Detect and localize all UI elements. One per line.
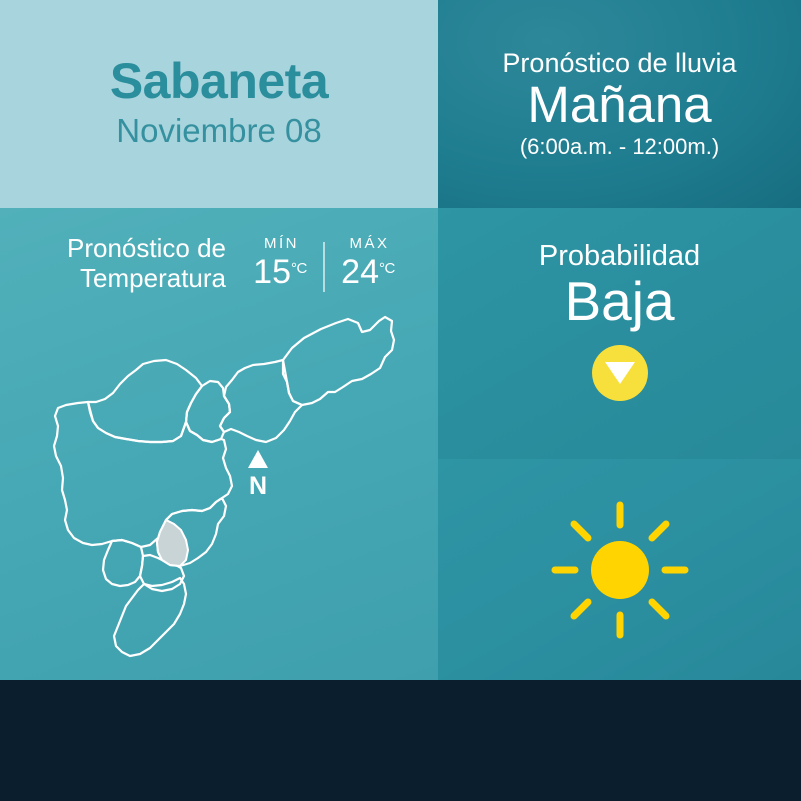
temperature-header: Pronóstico de Temperatura MÍN 15°C MÁX 2… <box>0 234 438 294</box>
rain-forecast-period: Mañana <box>527 77 711 132</box>
map-svg: N <box>40 308 440 658</box>
temperature-min-caption: MÍN <box>240 236 320 253</box>
municipality-bello <box>88 360 202 442</box>
temperature-max-block: MÁX 24°C <box>328 236 408 291</box>
temperature-map-panel: Pronóstico de Temperatura MÍN 15°C MÁX 2… <box>0 208 438 680</box>
municipality-medellin <box>54 402 232 547</box>
municipality-girardota <box>220 360 302 442</box>
probability-value: Baja <box>564 273 674 331</box>
probability-panel: Probabilidad Baja <box>438 208 801 459</box>
temperature-label: Pronóstico de Temperatura <box>30 234 240 294</box>
page-title: Sabaneta <box>110 55 328 108</box>
map-municipality-borders <box>54 317 394 656</box>
temperature-max-caption: MÁX <box>328 236 408 253</box>
forecast-date: Noviembre 08 <box>116 110 321 153</box>
city-title-panel: Sabaneta Noviembre 08 <box>0 0 438 208</box>
municipality-sabaneta-highlighted[interactable] <box>157 520 188 566</box>
temperature-max-number: 24 <box>341 253 379 291</box>
footer-bar: SIATA Con el apoyo de: epm® ISAGEN Un pr… <box>0 680 801 801</box>
sun-disk <box>591 541 649 599</box>
rain-forecast-panel: Pronóstico de lluvia Mañana (6:00a.m. - … <box>438 0 801 208</box>
municipality-itagui <box>103 540 143 586</box>
triangle-down-icon <box>592 345 648 401</box>
rain-forecast-kicker: Pronóstico de lluvia <box>502 48 736 79</box>
temperature-max-unit: °C <box>379 260 395 277</box>
temperature-divider <box>323 242 325 292</box>
sky-condition-panel <box>438 459 801 680</box>
temperature-min-block: MÍN 15°C <box>240 236 320 291</box>
north-arrow-icon <box>248 450 268 468</box>
temperature-min-unit: °C <box>291 260 307 277</box>
north-arrow-label: N <box>249 472 267 500</box>
north-arrow: N <box>248 450 268 500</box>
temperature-min-value: 15°C <box>240 254 320 291</box>
municipality-barbosa <box>283 317 394 405</box>
rain-forecast-hours: (6:00a.m. - 12:00m.) <box>520 134 719 160</box>
probability-label: Probabilidad <box>539 241 700 273</box>
temperature-max-value: 24°C <box>328 254 408 291</box>
weather-forecast-card: Sabaneta Noviembre 08 Pronóstico de lluv… <box>0 0 801 801</box>
sun-icon <box>545 495 695 645</box>
temperature-min-number: 15 <box>253 253 291 291</box>
triangle-down-glyph <box>605 362 635 384</box>
valle-de-aburra-map[interactable]: N <box>40 308 440 658</box>
municipality-caldas <box>114 578 186 656</box>
